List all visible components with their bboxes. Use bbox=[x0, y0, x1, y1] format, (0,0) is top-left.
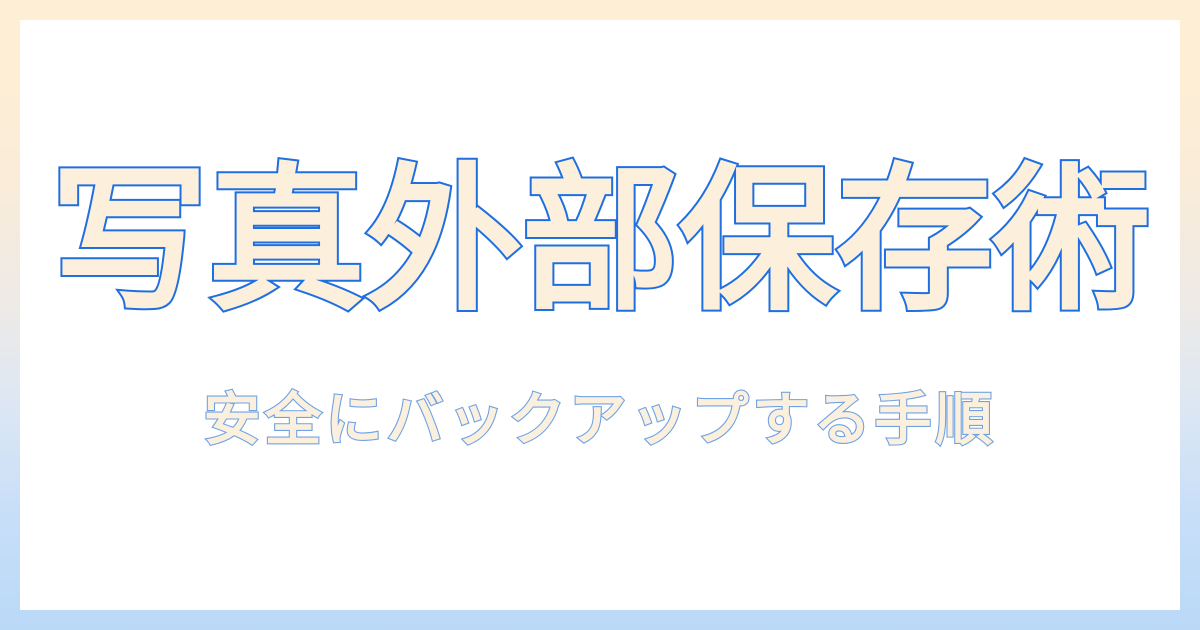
subtitle-block: 安全にバックアップする手順 bbox=[20, 392, 1180, 449]
white-card-panel: 写真外部保存術 安全にバックアップする手順 bbox=[20, 20, 1180, 610]
title-block: 写真外部保存術 bbox=[20, 162, 1180, 320]
poster-canvas: 写真外部保存術 安全にバックアップする手順 bbox=[0, 0, 1200, 630]
page-subtitle: 安全にバックアップする手順 bbox=[204, 392, 997, 449]
page-title: 写真外部保存術 bbox=[51, 162, 1150, 320]
